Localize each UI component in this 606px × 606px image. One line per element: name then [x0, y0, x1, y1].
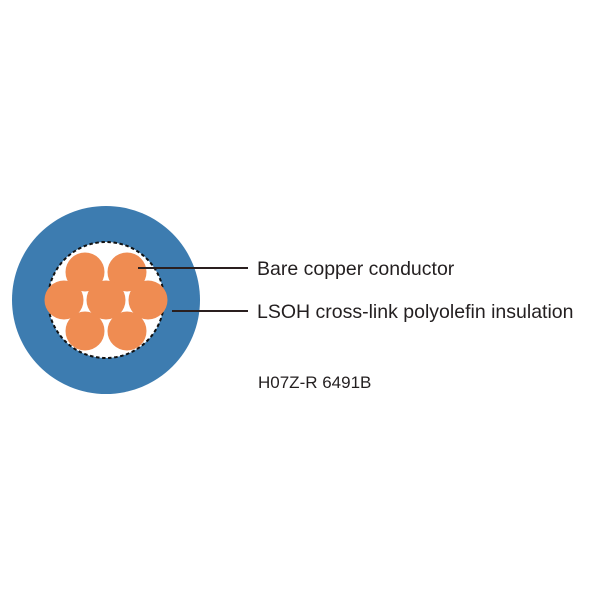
copper-strand	[108, 312, 147, 351]
cable-designation-caption: H07Z-R 6491B	[258, 373, 371, 392]
cable-diagram: Bare copper conductor LSOH cross-link po…	[0, 0, 606, 606]
callout-label-insulation: LSOH cross-link polyolefin insulation	[257, 301, 573, 323]
callout-label-conductor: Bare copper conductor	[257, 258, 455, 280]
copper-strand	[66, 312, 105, 351]
cable-cross-section-figure: Bare copper conductor LSOH cross-link po…	[0, 0, 606, 606]
